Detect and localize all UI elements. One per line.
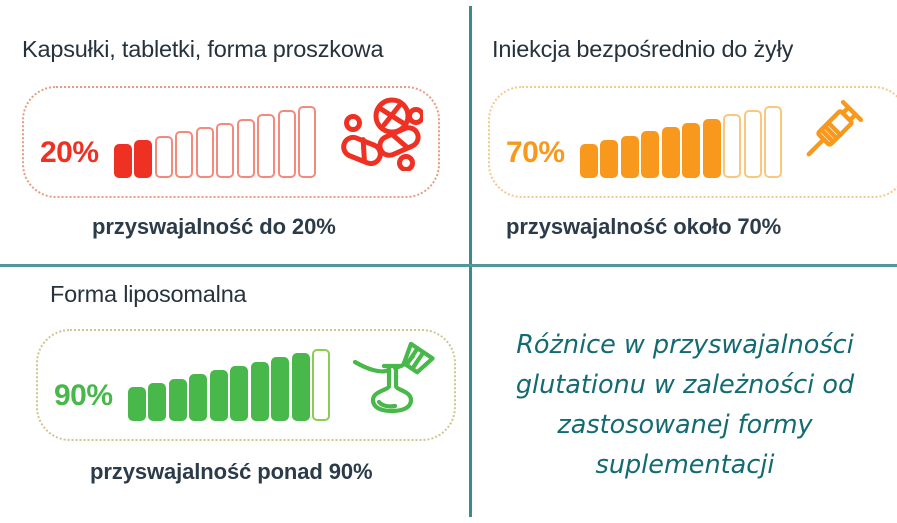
panel-capsules: Kapsułki, tabletki, forma proszkowa 20% xyxy=(0,10,469,264)
meter-bar xyxy=(237,119,255,178)
meter-bar xyxy=(621,136,639,178)
meter-bar xyxy=(169,379,187,421)
meter-bar xyxy=(134,140,152,178)
meter-bar xyxy=(271,357,289,421)
meter-row-capsules: 20% xyxy=(40,104,423,178)
meter-bar xyxy=(155,136,173,178)
bar-series-liposomal xyxy=(128,347,331,421)
infographic-root: Kapsułki, tabletki, forma proszkowa 20% xyxy=(0,0,897,523)
percent-label-injection: 70% xyxy=(506,138,565,168)
caption-liposomal: przyswajalność ponad 90% xyxy=(90,459,372,485)
meter-bar xyxy=(764,106,782,178)
pills-capsules-icon xyxy=(337,97,423,176)
meter-bar xyxy=(278,110,296,178)
percent-label-capsules: 20% xyxy=(40,138,99,168)
meter-bar xyxy=(114,144,132,178)
panel-liposomal: Forma liposomalna 90% przyswaj xyxy=(0,267,469,523)
meter-bar xyxy=(175,131,193,178)
panel-summary: Różnice w przyswajalności glutationu w z… xyxy=(472,267,897,523)
caption-capsules: przyswajalność do 20% xyxy=(92,214,336,240)
panel-title-injection: Iniekcja bezpośrednio do żyły xyxy=(492,36,793,63)
bar-series-injection xyxy=(580,104,783,178)
meter-bar xyxy=(662,127,680,178)
meter-bar xyxy=(189,374,207,421)
meter-bar xyxy=(641,131,659,178)
meter-row-liposomal: 90% xyxy=(54,347,437,421)
meter-bar xyxy=(312,349,330,421)
meter-bar xyxy=(744,110,762,178)
meter-bar xyxy=(216,123,234,178)
meter-row-injection: 70% xyxy=(506,104,879,178)
meter-bar xyxy=(230,366,248,421)
meter-bar xyxy=(251,362,269,421)
percent-label-liposomal: 90% xyxy=(54,381,113,411)
syringe-icon xyxy=(803,97,879,176)
meter-bar xyxy=(703,119,721,178)
panel-title-capsules: Kapsułki, tabletki, forma proszkowa xyxy=(22,36,383,63)
meter-bar xyxy=(723,114,741,178)
meter-bar xyxy=(210,370,228,421)
meter-bar xyxy=(682,123,700,178)
meter-bar xyxy=(128,387,146,421)
meter-bar xyxy=(257,114,275,178)
bar-series-capsules xyxy=(114,104,317,178)
caption-injection: przyswajalność około 70% xyxy=(506,214,781,240)
panel-injection: Iniekcja bezpośrednio do żyły 70% xyxy=(472,10,897,264)
flask-dropper-icon xyxy=(351,340,437,419)
panel-title-liposomal: Forma liposomalna xyxy=(50,281,246,308)
summary-headline: Różnice w przyswajalności glutationu w z… xyxy=(478,325,892,485)
meter-bar xyxy=(196,127,214,178)
meter-bar xyxy=(148,383,166,421)
meter-bar xyxy=(580,144,598,178)
meter-bar xyxy=(292,353,310,421)
meter-bar xyxy=(298,106,316,178)
meter-bar xyxy=(600,140,618,178)
